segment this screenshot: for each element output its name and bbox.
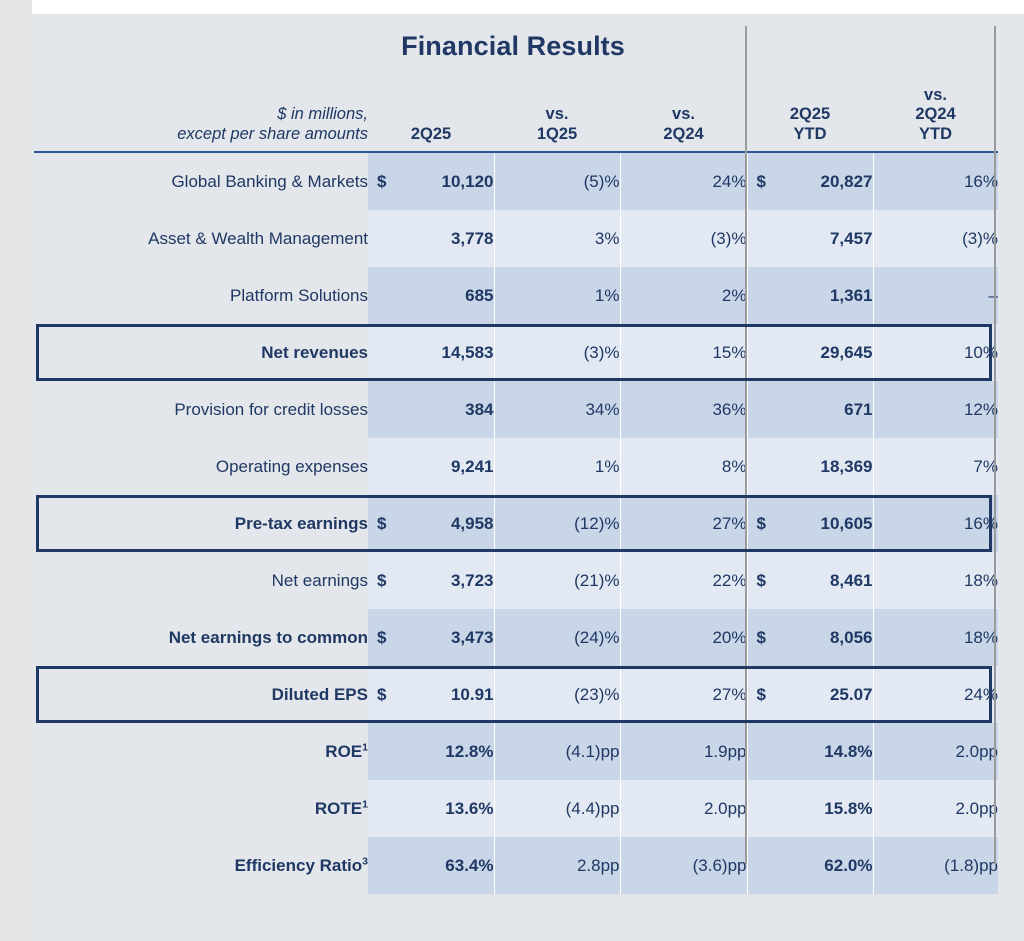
cell-value: 7,457 bbox=[830, 229, 873, 248]
cell-value: 10% bbox=[964, 343, 998, 362]
col1-l3: 1Q25 bbox=[494, 125, 620, 144]
cell-vs-2q24-ytd: (3)% bbox=[873, 210, 998, 267]
currency-symbol: $ bbox=[757, 172, 766, 192]
cell-2q25-ytd: $10,605 bbox=[747, 495, 873, 552]
cell-2q25-ytd: 14.8% bbox=[747, 723, 873, 780]
cell-2q25-ytd: 1,361 bbox=[747, 267, 873, 324]
cell-value: 2% bbox=[722, 286, 747, 305]
cell-value: 2.0pp bbox=[955, 742, 998, 761]
page-title: Financial Results bbox=[32, 31, 994, 62]
cell-vs-2q24: 27% bbox=[620, 666, 747, 723]
cell-value: (5)% bbox=[584, 172, 620, 191]
financial-results-table: $ in millions, except per share amounts … bbox=[34, 60, 998, 894]
cell-2q25-ytd: $20,827 bbox=[747, 153, 873, 210]
cell-vs-1q25: (3)% bbox=[494, 324, 620, 381]
cell-2q25-ytd: 7,457 bbox=[747, 210, 873, 267]
currency-symbol: $ bbox=[377, 571, 386, 591]
col3-l2: 2Q25 bbox=[747, 105, 873, 124]
cell-value: 14,583 bbox=[442, 343, 494, 362]
cell-vs-1q25: (5)% bbox=[494, 153, 620, 210]
units-note-line2: except per share amounts bbox=[34, 125, 368, 144]
cell-value: 63.4% bbox=[445, 856, 493, 875]
table-row: Operating expenses9,2411%8%18,3697% bbox=[34, 438, 998, 495]
cell-value: 4,958 bbox=[451, 514, 494, 533]
cell-value: 671 bbox=[844, 400, 872, 419]
cell-vs-2q24-ytd: 18% bbox=[873, 552, 998, 609]
cell-vs-2q24: 27% bbox=[620, 495, 747, 552]
cell-value: 22% bbox=[712, 571, 746, 590]
cell-vs-2q24-ytd: 12% bbox=[873, 381, 998, 438]
currency-symbol: $ bbox=[377, 514, 386, 534]
cell-value: 15.8% bbox=[824, 799, 872, 818]
cell-2q25: 14,583 bbox=[368, 324, 494, 381]
cell-vs-2q24: 22% bbox=[620, 552, 747, 609]
currency-symbol: $ bbox=[757, 571, 766, 591]
ytd-section-divider bbox=[745, 26, 747, 864]
cell-2q25: 685 bbox=[368, 267, 494, 324]
cell-value: (4.4)pp bbox=[566, 799, 620, 818]
cell-value: 2.0pp bbox=[704, 799, 747, 818]
col4-l1: vs. bbox=[873, 86, 998, 105]
cell-value: 13.6% bbox=[445, 799, 493, 818]
column-header-vs-2q24: vs. 2Q24 bbox=[620, 60, 747, 151]
cell-value: 10,120 bbox=[442, 172, 494, 191]
cell-value: 62.0% bbox=[824, 856, 872, 875]
col2-l3: 2Q24 bbox=[620, 125, 747, 144]
cell-vs-2q24: (3.6)pp bbox=[620, 837, 747, 894]
cell-value: 20,827 bbox=[821, 172, 873, 191]
currency-symbol: $ bbox=[757, 514, 766, 534]
column-header-2q25: 2Q25 bbox=[368, 60, 494, 151]
table-row: Global Banking & Markets$10,120(5)%24%$2… bbox=[34, 153, 998, 210]
row-label: Net earnings to common bbox=[34, 609, 368, 666]
cell-2q25: 9,241 bbox=[368, 438, 494, 495]
row-label: Platform Solutions bbox=[34, 267, 368, 324]
cell-2q25: $10.91 bbox=[368, 666, 494, 723]
cell-vs-1q25: 2.8pp bbox=[494, 837, 620, 894]
cell-2q25: $4,958 bbox=[368, 495, 494, 552]
table-row: Diluted EPS$10.91(23)%27%$25.0724% bbox=[34, 666, 998, 723]
table-row: Efficiency Ratio363.4%2.8pp(3.6)pp62.0%(… bbox=[34, 837, 998, 894]
cell-value: 20% bbox=[712, 628, 746, 647]
cell-2q25-ytd: $8,056 bbox=[747, 609, 873, 666]
cell-2q25: 13.6% bbox=[368, 780, 494, 837]
row-label: Operating expenses bbox=[34, 438, 368, 495]
cell-value: 8,461 bbox=[830, 571, 873, 590]
table-row: Net revenues14,583(3)%15%29,64510% bbox=[34, 324, 998, 381]
cell-2q25: 63.4% bbox=[368, 837, 494, 894]
cell-vs-2q24-ytd: 16% bbox=[873, 153, 998, 210]
cell-value: 16% bbox=[964, 172, 998, 191]
column-header-2q25-ytd: 2Q25 YTD bbox=[747, 60, 873, 151]
cell-value: 24% bbox=[964, 685, 998, 704]
column-header-vs-2q24-ytd: vs. 2Q24 YTD bbox=[873, 60, 998, 151]
currency-symbol: $ bbox=[377, 685, 386, 705]
table-row: Asset & Wealth Management3,7783%(3)%7,45… bbox=[34, 210, 998, 267]
cell-value: 1% bbox=[595, 457, 620, 476]
column-header-vs-1q25: vs. 1Q25 bbox=[494, 60, 620, 151]
currency-symbol: $ bbox=[757, 628, 766, 648]
cell-value: 9,241 bbox=[451, 457, 494, 476]
col1-l2: vs. bbox=[494, 105, 620, 124]
cell-vs-2q24-ytd: (1.8)pp bbox=[873, 837, 998, 894]
table-header: $ in millions, except per share amounts … bbox=[34, 60, 998, 153]
left-margin-strip bbox=[0, 0, 31, 941]
cell-value: (3.6)pp bbox=[693, 856, 747, 875]
cell-value: 15% bbox=[712, 343, 746, 362]
col4-l2: 2Q24 bbox=[873, 105, 998, 124]
row-label: Provision for credit losses bbox=[34, 381, 368, 438]
row-label: Pre-tax earnings bbox=[34, 495, 368, 552]
cell-2q25-ytd: $8,461 bbox=[747, 552, 873, 609]
currency-symbol: $ bbox=[757, 685, 766, 705]
cell-vs-1q25: 34% bbox=[494, 381, 620, 438]
row-label: Global Banking & Markets bbox=[34, 153, 368, 210]
cell-value: 18% bbox=[964, 628, 998, 647]
col4-l3: YTD bbox=[873, 125, 998, 144]
cell-value: (3)% bbox=[584, 343, 620, 362]
cell-value: 3% bbox=[595, 229, 620, 248]
cell-vs-2q24-ytd: 2.0pp bbox=[873, 723, 998, 780]
cell-vs-1q25: (12)% bbox=[494, 495, 620, 552]
table-right-edge-rule bbox=[994, 26, 996, 864]
cell-2q25-ytd: 29,645 bbox=[747, 324, 873, 381]
currency-symbol: $ bbox=[377, 628, 386, 648]
cell-2q25: 3,778 bbox=[368, 210, 494, 267]
cell-vs-2q24: 15% bbox=[620, 324, 747, 381]
table-row: ROTE113.6%(4.4)pp2.0pp15.8%2.0pp bbox=[34, 780, 998, 837]
cell-value: 2.0pp bbox=[955, 799, 998, 818]
cell-vs-2q24-ytd: – bbox=[873, 267, 998, 324]
cell-2q25-ytd: 671 bbox=[747, 381, 873, 438]
row-label: ROE1 bbox=[34, 723, 368, 780]
cell-value: (3)% bbox=[962, 229, 998, 248]
cell-value: 1.9pp bbox=[704, 742, 747, 761]
cell-2q25-ytd: $25.07 bbox=[747, 666, 873, 723]
cell-value: 24% bbox=[712, 172, 746, 191]
cell-value: 3,723 bbox=[451, 571, 494, 590]
row-label: Asset & Wealth Management bbox=[34, 210, 368, 267]
cell-2q25: 12.8% bbox=[368, 723, 494, 780]
cell-vs-2q24: 8% bbox=[620, 438, 747, 495]
cell-vs-1q25: (23)% bbox=[494, 666, 620, 723]
col0-l2: 2Q25 bbox=[368, 125, 494, 144]
units-note: $ in millions, except per share amounts bbox=[34, 60, 368, 151]
cell-vs-2q24: 2% bbox=[620, 267, 747, 324]
cell-vs-1q25: (21)% bbox=[494, 552, 620, 609]
cell-value: 8% bbox=[722, 457, 747, 476]
cell-vs-2q24-ytd: 2.0pp bbox=[873, 780, 998, 837]
cell-vs-1q25: 1% bbox=[494, 267, 620, 324]
cell-vs-1q25: 3% bbox=[494, 210, 620, 267]
cell-2q25-ytd: 62.0% bbox=[747, 837, 873, 894]
cell-2q25-ytd: 18,369 bbox=[747, 438, 873, 495]
slide-canvas: Financial Results $ in millions, except … bbox=[32, 14, 1024, 941]
cell-value: 3,473 bbox=[451, 628, 494, 647]
table-row: Pre-tax earnings$4,958(12)%27%$10,60516% bbox=[34, 495, 998, 552]
cell-value: 25.07 bbox=[830, 685, 873, 704]
cell-value: 12.8% bbox=[445, 742, 493, 761]
cell-vs-1q25: (4.1)pp bbox=[494, 723, 620, 780]
cell-value: 27% bbox=[712, 685, 746, 704]
cell-vs-2q24-ytd: 10% bbox=[873, 324, 998, 381]
cell-value: 36% bbox=[712, 400, 746, 419]
top-white-band bbox=[32, 0, 1024, 14]
cell-vs-2q24: 24% bbox=[620, 153, 747, 210]
table-row: Net earnings to common$3,473(24)%20%$8,0… bbox=[34, 609, 998, 666]
table-header-row: $ in millions, except per share amounts … bbox=[34, 60, 998, 151]
currency-symbol: $ bbox=[377, 172, 386, 192]
row-label: ROTE1 bbox=[34, 780, 368, 837]
cell-2q25: 384 bbox=[368, 381, 494, 438]
cell-value: (21)% bbox=[574, 571, 619, 590]
cell-vs-2q24-ytd: 18% bbox=[873, 609, 998, 666]
cell-value: (23)% bbox=[574, 685, 619, 704]
cell-vs-2q24: 2.0pp bbox=[620, 780, 747, 837]
cell-value: 2.8pp bbox=[577, 856, 620, 875]
cell-vs-2q24-ytd: 7% bbox=[873, 438, 998, 495]
cell-value: 1% bbox=[595, 286, 620, 305]
row-label: Efficiency Ratio3 bbox=[34, 837, 368, 894]
cell-vs-1q25: (24)% bbox=[494, 609, 620, 666]
col2-l2: vs. bbox=[620, 105, 747, 124]
table-row: Platform Solutions6851%2%1,361– bbox=[34, 267, 998, 324]
cell-vs-2q24: 20% bbox=[620, 609, 747, 666]
cell-value: 3,778 bbox=[451, 229, 494, 248]
cell-vs-1q25: (4.4)pp bbox=[494, 780, 620, 837]
cell-vs-2q24-ytd: 24% bbox=[873, 666, 998, 723]
table-row: Provision for credit losses38434%36%6711… bbox=[34, 381, 998, 438]
cell-value: 10.91 bbox=[451, 685, 494, 704]
cell-value: 18,369 bbox=[821, 457, 873, 476]
cell-vs-2q24: 36% bbox=[620, 381, 747, 438]
cell-value: (4.1)pp bbox=[566, 742, 620, 761]
cell-value: (12)% bbox=[574, 514, 619, 533]
cell-vs-2q24: 1.9pp bbox=[620, 723, 747, 780]
cell-value: 16% bbox=[964, 514, 998, 533]
cell-value: 34% bbox=[585, 400, 619, 419]
cell-2q25: $3,473 bbox=[368, 609, 494, 666]
cell-value: 384 bbox=[465, 400, 493, 419]
cell-value: 29,645 bbox=[821, 343, 873, 362]
cell-value: 10,605 bbox=[821, 514, 873, 533]
cell-value: (1.8)pp bbox=[944, 856, 998, 875]
row-label: Net earnings bbox=[34, 552, 368, 609]
cell-vs-2q24: (3)% bbox=[620, 210, 747, 267]
cell-2q25: $3,723 bbox=[368, 552, 494, 609]
cell-value: (3)% bbox=[711, 229, 747, 248]
row-label: Net revenues bbox=[34, 324, 368, 381]
cell-2q25: $10,120 bbox=[368, 153, 494, 210]
row-label: Diluted EPS bbox=[34, 666, 368, 723]
units-note-line1: $ in millions, bbox=[34, 105, 368, 124]
cell-value: 8,056 bbox=[830, 628, 873, 647]
cell-value: 14.8% bbox=[824, 742, 872, 761]
cell-value: 1,361 bbox=[830, 286, 873, 305]
table-row: ROE112.8%(4.1)pp1.9pp14.8%2.0pp bbox=[34, 723, 998, 780]
cell-value: 27% bbox=[712, 514, 746, 533]
table-row: Net earnings$3,723(21)%22%$8,46118% bbox=[34, 552, 998, 609]
table-body: Global Banking & Markets$10,120(5)%24%$2… bbox=[34, 153, 998, 894]
col3-l3: YTD bbox=[747, 125, 873, 144]
cell-value: 685 bbox=[465, 286, 493, 305]
cell-2q25-ytd: 15.8% bbox=[747, 780, 873, 837]
cell-value: (24)% bbox=[574, 628, 619, 647]
cell-vs-1q25: 1% bbox=[494, 438, 620, 495]
cell-vs-2q24-ytd: 16% bbox=[873, 495, 998, 552]
cell-value: 18% bbox=[964, 571, 998, 590]
cell-value: 12% bbox=[964, 400, 998, 419]
